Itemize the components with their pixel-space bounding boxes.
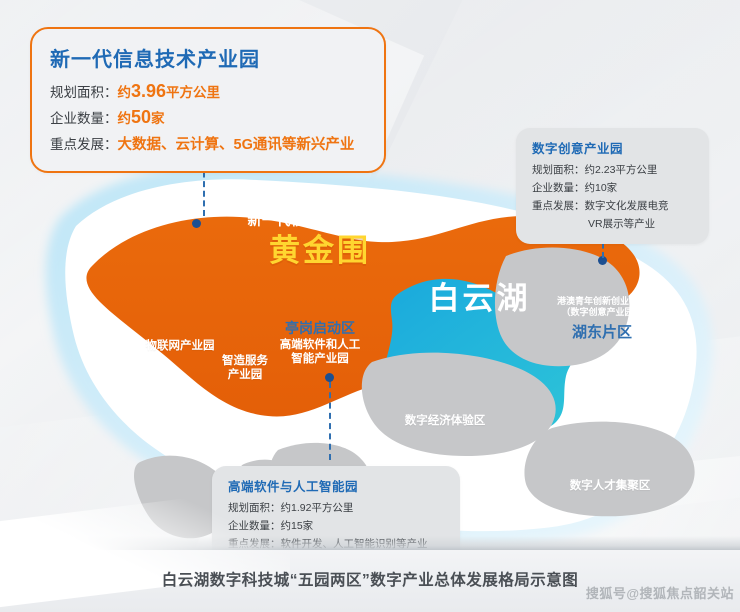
card-row: 规划面积： 约3.96平方公里: [50, 81, 366, 102]
row-key: 企业数量：: [532, 180, 585, 195]
row-key: 企业数量：: [50, 107, 118, 127]
row-value: 约1.92平方公里: [281, 500, 354, 515]
zone-hudong-area: [495, 247, 629, 366]
row-key: 重点发展：: [532, 198, 585, 213]
watermark: 搜狐号@搜狐焦点韶关站: [586, 583, 734, 602]
row-value: 大数据、云计算、5G通讯等新兴产业: [118, 133, 355, 154]
leader-line-tinggang: [329, 382, 331, 460]
row-value: 约3.96平方公里: [118, 81, 221, 102]
marker-dot-tinggang: [325, 373, 334, 382]
row-value: 数字文化发展电竞: [585, 198, 669, 213]
card-next-gen-it-park[interactable]: 新一代信息技术产业园 规划面积： 约3.96平方公里 企业数量： 约50家 重点…: [30, 27, 386, 173]
card-row: VR展示等产业: [588, 216, 695, 231]
card-row: 企业数量： 约50家: [50, 107, 366, 128]
zone-digital-talent-cluster: [524, 422, 694, 517]
row-key: 规划面积：: [532, 162, 585, 177]
card-row: 规划面积： 约2.23平方公里: [532, 162, 695, 177]
card-title: 数字创意产业园: [532, 138, 695, 157]
row-key: 规划面积：: [50, 81, 118, 101]
row-value: 约10家: [585, 180, 618, 195]
row-value: 约2.23平方公里: [585, 162, 658, 177]
card-row: 企业数量： 约10家: [532, 180, 695, 195]
card-title: 新一代信息技术产业园: [50, 43, 366, 72]
card-digital-creative-park[interactable]: 数字创意产业园 规划面积： 约2.23平方公里 企业数量： 约10家 重点发展：…: [516, 128, 709, 244]
infographic-canvas: 新一代信息技术产业园 黄金围 白云湖 物联网产业园 智造服务 产业园 亭岗启动区…: [0, 0, 740, 612]
row-value: VR展示等产业: [588, 216, 655, 231]
marker-dot-huangjinwei: [192, 219, 201, 228]
card-row: 重点发展： 数字文化发展电竞: [532, 198, 695, 213]
row-value: 约50家: [118, 107, 165, 128]
row-key: 重点发展：: [50, 133, 118, 153]
card-row: 重点发展： 大数据、云计算、5G通讯等新兴产业: [50, 133, 366, 154]
